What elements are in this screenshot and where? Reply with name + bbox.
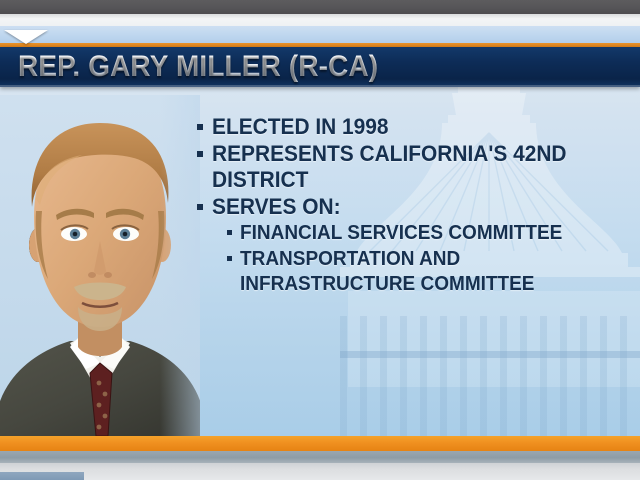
fact-list: ELECTED IN 1998 REPRESENTS CALIFORNIA'S … <box>197 114 640 298</box>
page-title: REP. GARY MILLER (R-CA) <box>18 50 378 84</box>
list-item: TRANSPORTATION AND INFRASTRUCTURE COMMIT… <box>227 247 640 297</box>
bottom-slate-bar <box>0 451 640 463</box>
bullet-square-icon <box>197 204 203 210</box>
bullet-square-icon <box>197 124 203 130</box>
bottom-left-tab <box>0 472 84 480</box>
bullet-square-icon <box>227 256 232 261</box>
list-item-label: REPRESENTS CALIFORNIA'S 42ND DISTRICT <box>212 141 567 193</box>
list-item-label: ELECTED IN 1998 <box>212 114 389 140</box>
top-letterbox-bar <box>0 0 640 14</box>
triangle-marker-icon <box>4 30 48 44</box>
list-item-label: TRANSPORTATION AND INFRASTRUCTURE COMMIT… <box>240 247 534 297</box>
list-item-label: SERVES ON: <box>212 194 341 220</box>
bullet-square-icon <box>227 230 232 235</box>
list-item-label: FINANCIAL SERVICES COMMITTEE <box>240 221 562 246</box>
top-blue-strip <box>0 26 640 44</box>
list-item: SERVES ON: <box>197 194 640 220</box>
orange-accent-line-bottom <box>0 436 640 451</box>
list-item: FINANCIAL SERVICES COMMITTEE <box>227 221 640 246</box>
bullet-square-icon <box>197 151 203 157</box>
list-item: ELECTED IN 1998 <box>197 114 640 140</box>
broadcast-graphic-screen: REP. GARY MILLER (R-CA) <box>0 0 640 480</box>
portrait-photo <box>0 95 200 436</box>
bottom-gray-bar <box>0 463 640 480</box>
list-item: REPRESENTS CALIFORNIA'S 42ND DISTRICT <box>197 141 640 193</box>
capitol-columns <box>340 316 640 436</box>
top-white-strip <box>0 14 640 26</box>
